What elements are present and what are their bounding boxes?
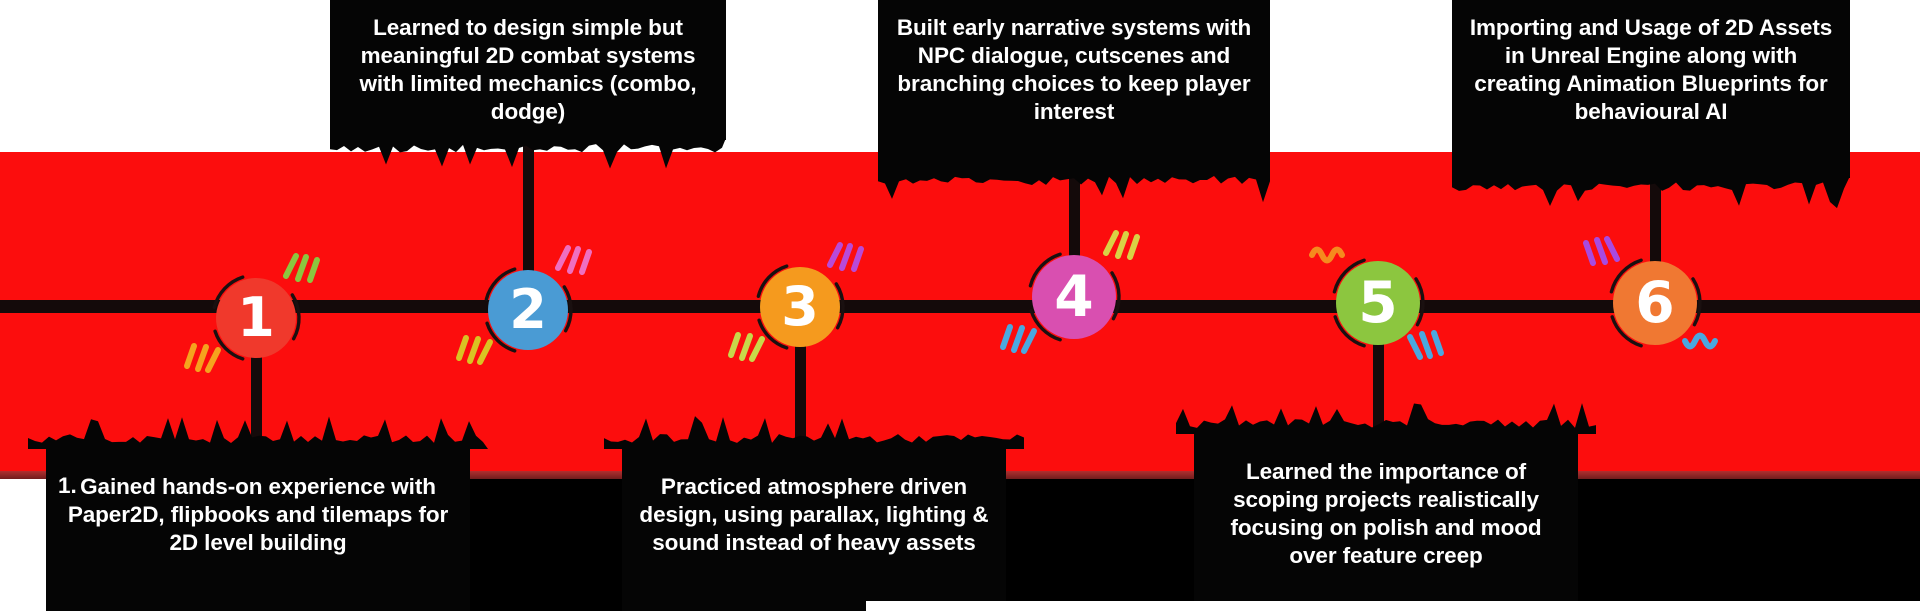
node-5-bubble[interactable]: 5 bbox=[1336, 261, 1420, 345]
node-6-bubble[interactable]: 6 bbox=[1613, 261, 1697, 345]
timeline-node-2[interactable]: 2 bbox=[458, 240, 598, 380]
milestone-panel-1: Gained hands-on experience with Paper2D,… bbox=[46, 447, 470, 611]
node-2-accent-top-icon bbox=[552, 238, 598, 284]
milestone-text-3: Practiced atmosphere driven design, usin… bbox=[622, 473, 1006, 557]
bottom-white-strip bbox=[866, 601, 1920, 611]
timeline-node-1[interactable]: 1 bbox=[186, 248, 326, 388]
node-4-bubble[interactable]: 4 bbox=[1032, 255, 1116, 339]
timeline-node-4[interactable]: 4 bbox=[1002, 225, 1146, 369]
list-marker-1: 1. bbox=[58, 473, 77, 499]
milestone-panel-2: Learned to design simple but meaningful … bbox=[330, 0, 726, 140]
milestone-text-6: Importing and Usage of 2D Assets in Unre… bbox=[1452, 14, 1850, 126]
milestone-panel-4: Built early narrative systems with NPC d… bbox=[878, 0, 1270, 172]
timeline-infographic: Learned to design simple but meaningful … bbox=[0, 0, 1920, 611]
node-1-bubble[interactable]: 1 bbox=[216, 278, 296, 358]
timeline-node-3[interactable]: 3 bbox=[730, 237, 870, 377]
milestone-text-4: Built early narrative systems with NPC d… bbox=[878, 14, 1270, 126]
milestone-text-5: Learned the importance of scoping projec… bbox=[1194, 458, 1578, 570]
node-5-accent-top-icon bbox=[1300, 229, 1346, 275]
timeline-node-6[interactable]: 6 bbox=[1583, 231, 1727, 375]
node-6-accent-top-icon bbox=[1577, 229, 1623, 275]
node-3-accent-top-icon bbox=[824, 235, 870, 281]
node-3-bubble[interactable]: 3 bbox=[760, 267, 840, 347]
milestone-text-1: Gained hands-on experience with Paper2D,… bbox=[46, 473, 470, 557]
milestone-panel-3: Practiced atmosphere driven design, usin… bbox=[622, 447, 1006, 611]
node-4-accent-top-icon bbox=[1100, 223, 1146, 269]
timeline-node-5[interactable]: 5 bbox=[1306, 231, 1450, 375]
left-white-notch bbox=[0, 479, 46, 611]
node-2-bubble[interactable]: 2 bbox=[488, 270, 568, 350]
milestone-panel-5: Learned the importance of scoping projec… bbox=[1194, 432, 1578, 611]
milestone-panel-6: Importing and Usage of 2D Assets in Unre… bbox=[1452, 0, 1850, 178]
milestone-text-2: Learned to design simple but meaningful … bbox=[330, 14, 726, 126]
node-1-accent-top-icon bbox=[280, 246, 326, 292]
